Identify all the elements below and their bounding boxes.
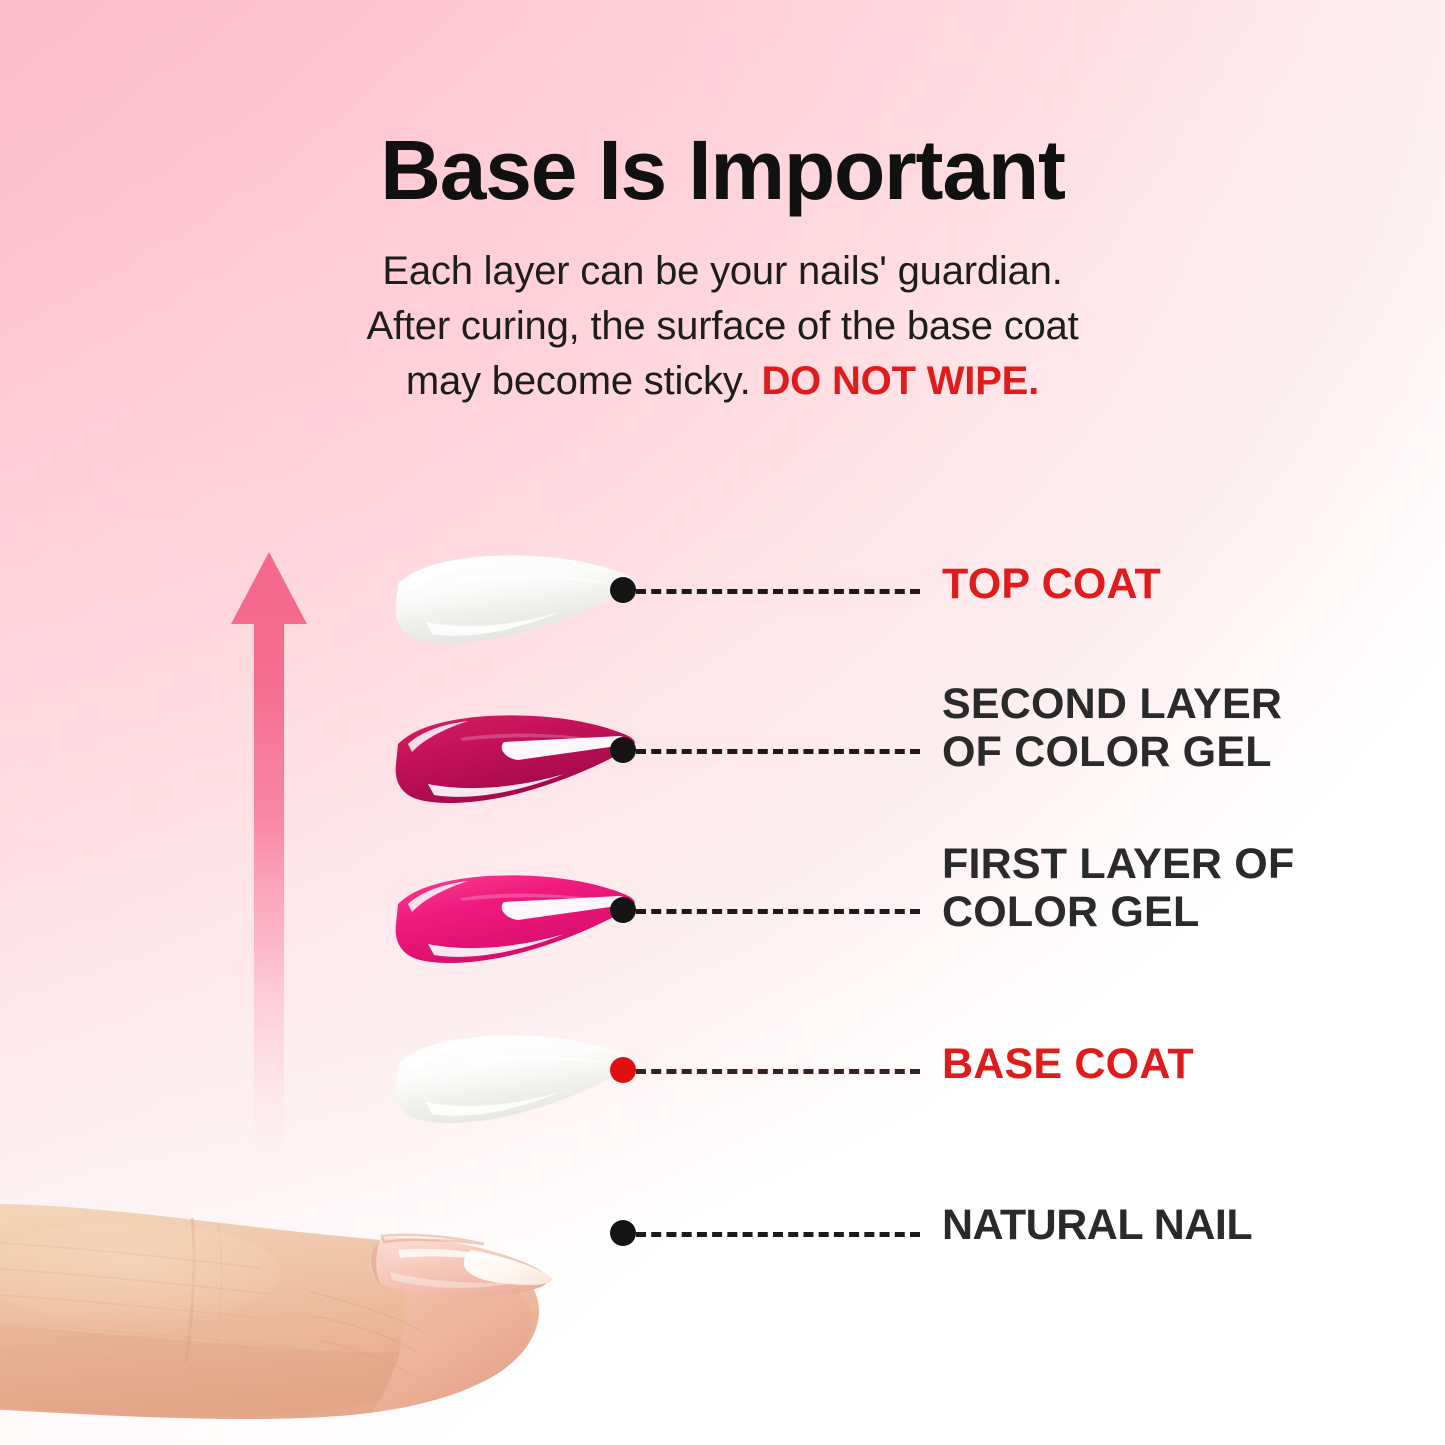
do-not-wipe-warning: DO NOT WIPE. bbox=[761, 359, 1039, 403]
leader-line-natural-nail bbox=[636, 1232, 920, 1237]
subtitle-line-3-normal: may become sticky. bbox=[406, 359, 762, 403]
finger-photo bbox=[0, 1172, 600, 1445]
subtitle-line-1: Each layer can be your nails' guardian. bbox=[0, 244, 1445, 299]
nail-shape-second-layer bbox=[392, 708, 640, 812]
leader-dot-top-coat bbox=[610, 577, 636, 603]
nail-shape-top-coat bbox=[392, 548, 640, 652]
leader-line-top-coat bbox=[636, 589, 920, 594]
page-title: Base Is Important bbox=[0, 128, 1445, 214]
leader-line-second-layer bbox=[636, 749, 920, 754]
leader-dot-natural-nail bbox=[610, 1220, 636, 1246]
leader-line-base-coat bbox=[636, 1069, 920, 1074]
subtitle-line-2: After curing, the surface of the base co… bbox=[0, 299, 1445, 354]
upward-arrow-icon bbox=[228, 548, 310, 1184]
leader-line-first-layer bbox=[636, 909, 920, 914]
nail-shape-first-layer bbox=[392, 868, 640, 972]
leader-dot-base-coat bbox=[610, 1057, 636, 1083]
infographic-canvas: Base Is Important Each layer can be your… bbox=[0, 0, 1445, 1445]
nail-shape-base-coat bbox=[392, 1028, 640, 1132]
leader-dot-first-layer bbox=[610, 897, 636, 923]
layer-label-second-layer: SECOND LAYER OF COLOR GEL bbox=[942, 680, 1282, 776]
leader-dot-second-layer bbox=[610, 737, 636, 763]
header-block: Base Is Important Each layer can be your… bbox=[0, 128, 1445, 409]
layer-label-natural-nail: NATURAL NAIL bbox=[942, 1201, 1252, 1249]
subtitle-line-3: may become sticky. DO NOT WIPE. bbox=[0, 354, 1445, 409]
layer-label-base-coat: BASE COAT bbox=[942, 1040, 1194, 1088]
layer-label-top-coat: TOP COAT bbox=[942, 560, 1161, 608]
subtitle-block: Each layer can be your nails' guardian. … bbox=[0, 244, 1445, 410]
layer-label-first-layer: FIRST LAYER OF COLOR GEL bbox=[942, 840, 1294, 936]
